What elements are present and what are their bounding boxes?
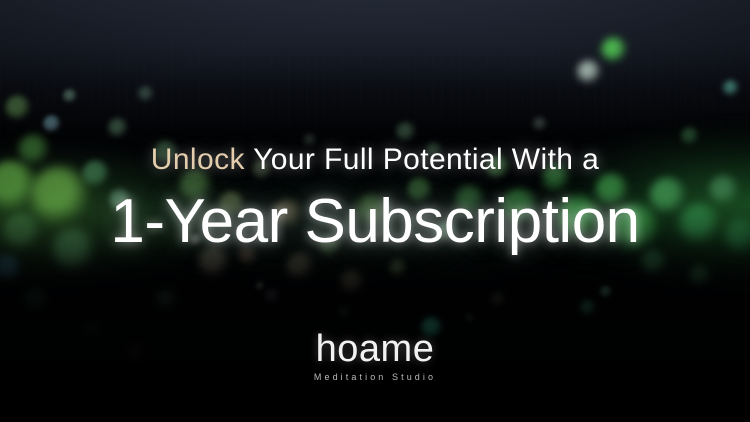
headline: 1-Year Subscription xyxy=(0,186,750,257)
brand-wordmark: hoame xyxy=(0,330,750,368)
brand-tagline: Meditation Studio xyxy=(0,373,750,382)
subheadline: Unlock Your Full Potential With a xyxy=(0,143,750,177)
subheadline-rest: Your Full Potential With a xyxy=(245,143,599,176)
subheadline-accent-word: Unlock xyxy=(151,143,245,176)
brand-logo-lockup: hoame Meditation Studio xyxy=(0,330,750,382)
promo-slide: Unlock Your Full Potential With a 1-Year… xyxy=(0,0,750,422)
slide-copy: Unlock Your Full Potential With a 1-Year… xyxy=(0,0,750,422)
